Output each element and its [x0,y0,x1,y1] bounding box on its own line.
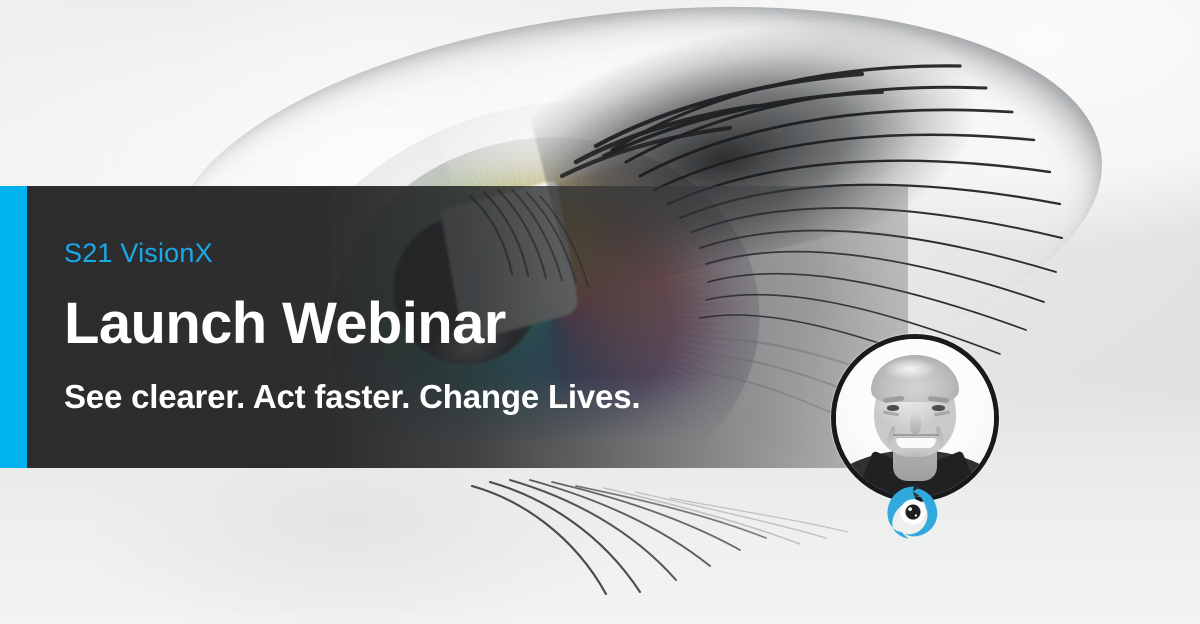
avatar-chin-shadow [893,450,937,464]
banner-canvas: S21 VisionX Launch Webinar See clearer. … [0,0,1200,624]
avatar-photo [836,339,994,497]
avatar-lip-line [893,434,939,436]
avatar-hair-highlight [883,358,937,380]
avatar-eye-left [887,405,900,410]
avatar [831,334,999,502]
product-eyebrow: S21 VisionX [64,239,844,269]
accent-bar [0,186,27,468]
visionx-aperture-eye-logo [884,483,942,541]
tagline: See clearer. Act faster. Change Lives. [64,379,844,415]
avatar-mouth [896,437,936,448]
headline-band-content: S21 VisionX Launch Webinar See clearer. … [64,186,844,468]
avatar-nose [910,413,921,434]
avatar-eye-right [932,405,945,410]
page-title: Launch Webinar [64,295,844,353]
